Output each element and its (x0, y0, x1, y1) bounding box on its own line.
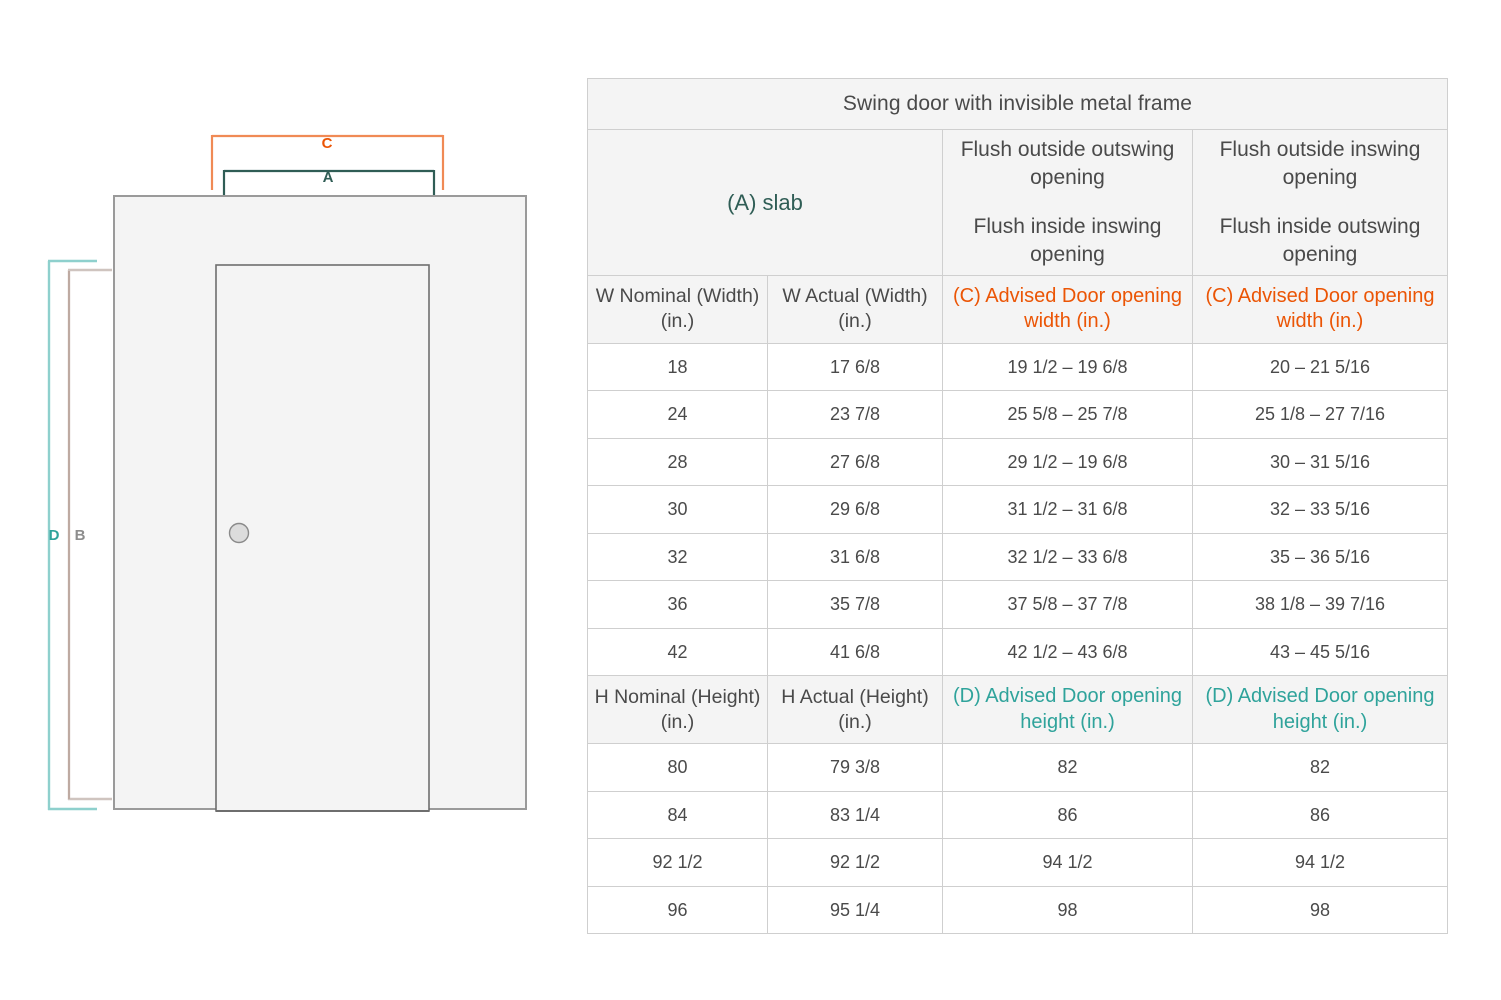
cell-w-actual: 41 6/8 (768, 628, 943, 676)
table-row: 84 83 1/4 86 86 (588, 791, 1448, 839)
cell-w-inswing: 43 – 45 5/16 (1193, 628, 1448, 676)
group-header-inswing-line2: Flush inside outswing opening (1203, 213, 1437, 268)
group-header-slab-text: slab (756, 190, 802, 215)
group-header-outswing-line2: Flush inside inswing opening (953, 213, 1182, 268)
dimension-label-c: C (322, 135, 333, 152)
cell-w-actual: 27 6/8 (768, 438, 943, 486)
width-header-actual: W Actual (Width) (in.) (768, 275, 943, 343)
group-header-inswing-line1: Flush outside inswing opening (1203, 136, 1437, 191)
cell-h-actual: 95 1/4 (768, 886, 943, 934)
group-header-slab-paren: (A) (727, 190, 756, 215)
cell-h-nominal: 92 1/2 (588, 839, 768, 887)
cell-w-outswing: 31 1/2 – 31 6/8 (943, 486, 1193, 534)
cell-w-nominal: 32 (588, 533, 768, 581)
table-row: 96 95 1/4 98 98 (588, 886, 1448, 934)
cell-h-inswing: 82 (1193, 744, 1448, 792)
table-row: 30 29 6/8 31 1/2 – 31 6/8 32 – 33 5/16 (588, 486, 1448, 534)
table-title: Swing door with invisible metal frame (588, 79, 1448, 130)
spec-table-container: Swing door with invisible metal frame (A… (587, 78, 1447, 934)
cell-h-outswing: 94 1/2 (943, 839, 1193, 887)
cell-h-outswing: 98 (943, 886, 1193, 934)
width-header-opening-outswing: (C) Advised Door opening width (in.) (943, 275, 1193, 343)
height-header-opening-inswing: (D) Advised Door opening height (in.) (1193, 676, 1448, 744)
cell-w-nominal: 42 (588, 628, 768, 676)
cell-w-nominal: 36 (588, 581, 768, 629)
cell-w-inswing: 38 1/8 – 39 7/16 (1193, 581, 1448, 629)
door-diagram: C A D B (0, 0, 570, 1000)
table-row: 32 31 6/8 32 1/2 – 33 6/8 35 – 36 5/16 (588, 533, 1448, 581)
cell-w-outswing: 19 1/2 – 19 6/8 (943, 343, 1193, 391)
group-header-outswing-line1: Flush outside outswing opening (953, 136, 1182, 191)
cell-w-actual: 23 7/8 (768, 391, 943, 439)
cell-w-inswing: 32 – 33 5/16 (1193, 486, 1448, 534)
cell-h-inswing: 86 (1193, 791, 1448, 839)
cell-w-outswing: 25 5/8 – 25 7/8 (943, 391, 1193, 439)
cell-w-actual: 35 7/8 (768, 581, 943, 629)
table-title-row: Swing door with invisible metal frame (588, 79, 1448, 130)
cell-w-actual: 29 6/8 (768, 486, 943, 534)
width-header-opening-inswing: (C) Advised Door opening width (in.) (1193, 275, 1448, 343)
door-diagram-svg: C A D B (0, 0, 570, 1000)
cell-h-actual: 83 1/4 (768, 791, 943, 839)
table-group-header-row: (A) slab Flush outside outswing opening … (588, 130, 1448, 276)
height-header-actual: H Actual (Height) (in.) (768, 676, 943, 744)
cell-h-nominal: 80 (588, 744, 768, 792)
cell-w-inswing: 25 1/8 – 27 7/16 (1193, 391, 1448, 439)
table-row: 92 1/2 92 1/2 94 1/2 94 1/2 (588, 839, 1448, 887)
height-header-row: H Nominal (Height) (in.) H Actual (Heigh… (588, 676, 1448, 744)
cell-h-nominal: 96 (588, 886, 768, 934)
cell-h-actual: 79 3/8 (768, 744, 943, 792)
cell-h-actual: 92 1/2 (768, 839, 943, 887)
cell-w-nominal: 24 (588, 391, 768, 439)
group-header-inswing: Flush outside inswing opening Flush insi… (1193, 130, 1448, 276)
dimension-label-d: D (49, 527, 60, 544)
cell-w-nominal: 18 (588, 343, 768, 391)
cell-h-inswing: 98 (1193, 886, 1448, 934)
cell-w-inswing: 20 – 21 5/16 (1193, 343, 1448, 391)
door-handle-icon (230, 524, 249, 543)
table-row: 28 27 6/8 29 1/2 – 19 6/8 30 – 31 5/16 (588, 438, 1448, 486)
cell-w-outswing: 32 1/2 – 33 6/8 (943, 533, 1193, 581)
cell-w-inswing: 35 – 36 5/16 (1193, 533, 1448, 581)
spec-table: Swing door with invisible metal frame (A… (587, 78, 1448, 934)
cell-h-nominal: 84 (588, 791, 768, 839)
table-row: 36 35 7/8 37 5/8 – 37 7/8 38 1/8 – 39 7/… (588, 581, 1448, 629)
cell-w-actual: 31 6/8 (768, 533, 943, 581)
cell-w-inswing: 30 – 31 5/16 (1193, 438, 1448, 486)
cell-h-inswing: 94 1/2 (1193, 839, 1448, 887)
dimension-label-a: A (323, 169, 334, 186)
cell-w-outswing: 42 1/2 – 43 6/8 (943, 628, 1193, 676)
table-row: 80 79 3/8 82 82 (588, 744, 1448, 792)
page-root: C A D B Swing door with invisible metal … (0, 0, 1501, 1000)
table-row: 24 23 7/8 25 5/8 – 25 7/8 25 1/8 – 27 7/… (588, 391, 1448, 439)
cell-h-outswing: 82 (943, 744, 1193, 792)
cell-w-outswing: 37 5/8 – 37 7/8 (943, 581, 1193, 629)
table-row: 42 41 6/8 42 1/2 – 43 6/8 43 – 45 5/16 (588, 628, 1448, 676)
cell-w-outswing: 29 1/2 – 19 6/8 (943, 438, 1193, 486)
cell-w-nominal: 28 (588, 438, 768, 486)
group-header-outswing: Flush outside outswing opening Flush ins… (943, 130, 1193, 276)
dimension-label-b: B (75, 527, 86, 544)
cell-w-nominal: 30 (588, 486, 768, 534)
cell-h-outswing: 86 (943, 791, 1193, 839)
width-header-nominal: W Nominal (Width) (in.) (588, 275, 768, 343)
width-header-row: W Nominal (Width) (in.) W Actual (Width)… (588, 275, 1448, 343)
cell-w-actual: 17 6/8 (768, 343, 943, 391)
table-row: 18 17 6/8 19 1/2 – 19 6/8 20 – 21 5/16 (588, 343, 1448, 391)
height-header-opening-outswing: (D) Advised Door opening height (in.) (943, 676, 1193, 744)
group-header-slab: (A) slab (588, 130, 943, 276)
door-slab-panel (216, 265, 429, 811)
height-header-nominal: H Nominal (Height) (in.) (588, 676, 768, 744)
